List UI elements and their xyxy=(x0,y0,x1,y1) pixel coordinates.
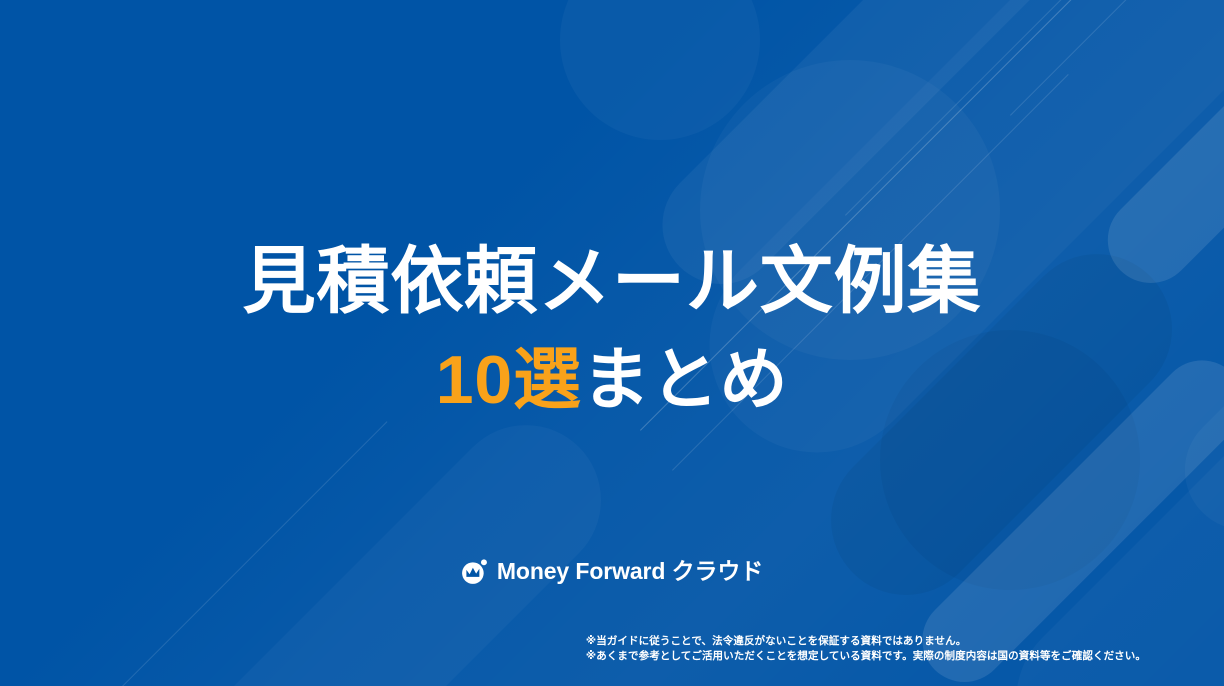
disclaimer-note: ※当ガイドに従うことで、法令違反がないことを保証する資料ではありません。 ※あく… xyxy=(586,634,1146,664)
slide-content: 見積依頼メール文例集 10選まとめ Money Forward クラウド ※当ガ… xyxy=(0,0,1224,686)
money-forward-mark-icon xyxy=(461,558,488,585)
brand-wordmark: Money Forward クラウド xyxy=(497,558,763,585)
page-title: 見積依頼メール文例集 10選まとめ xyxy=(0,236,1224,426)
title-line-1: 見積依頼メール文例集 xyxy=(0,236,1224,328)
disclaimer-line-1: ※当ガイドに従うことで、法令違反がないことを保証する資料ではありません。 xyxy=(586,634,1146,649)
brand-logo-lockup: Money Forward クラウド xyxy=(0,558,1224,585)
title-accent-count: 10選 xyxy=(436,342,582,418)
disclaimer-line-2: ※あくまで参考としてご活用いただくことを想定している資料です。実際の制度内容は国… xyxy=(586,649,1146,664)
title-slide: 見積依頼メール文例集 10選まとめ Money Forward クラウド ※当ガ… xyxy=(0,0,1224,686)
title-line-2: 10選まとめ xyxy=(0,334,1224,426)
title-line-2-rest: まとめ xyxy=(582,342,788,418)
